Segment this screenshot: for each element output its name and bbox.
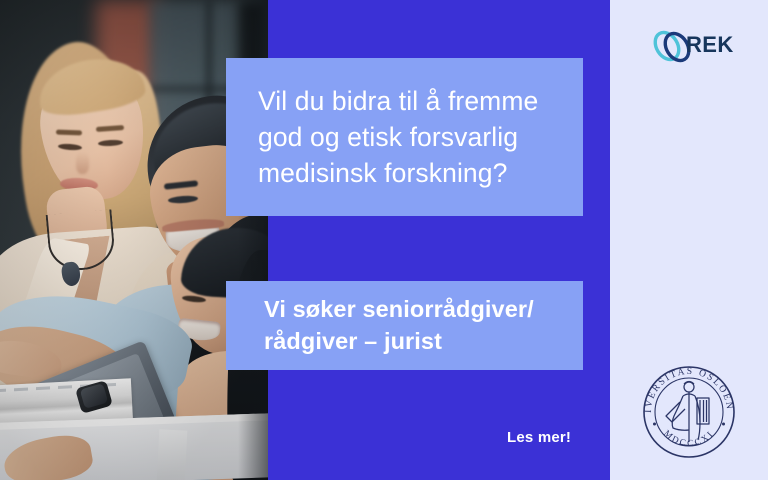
rek-logo: REK [650,26,736,66]
recruitment-banner: Vil du bidra til å fremmegod og etisk fo… [0,0,768,480]
rek-wordmark: REK [686,32,734,58]
job-title-box: Vi søker seniorrådgiver/rådgiver – juris… [226,281,583,370]
svg-text:UNIVERSITAS OSLOENSIS: UNIVERSITAS OSLOENSIS [639,362,735,413]
read-more-link[interactable]: Les mer! [507,429,571,446]
apollo-with-lyre-icon: UNIVERSITAS OSLOENSIS MDCCCXI [639,362,739,462]
uio-seal: UNIVERSITAS OSLOENSIS MDCCCXI [639,362,739,462]
headline-text: Vil du bidra til å fremmegod og etisk fo… [258,83,538,192]
job-title-text: Vi søker seniorrådgiver/rådgiver – juris… [264,294,534,357]
headline-box: Vil du bidra til å fremmegod og etisk fo… [226,58,583,216]
